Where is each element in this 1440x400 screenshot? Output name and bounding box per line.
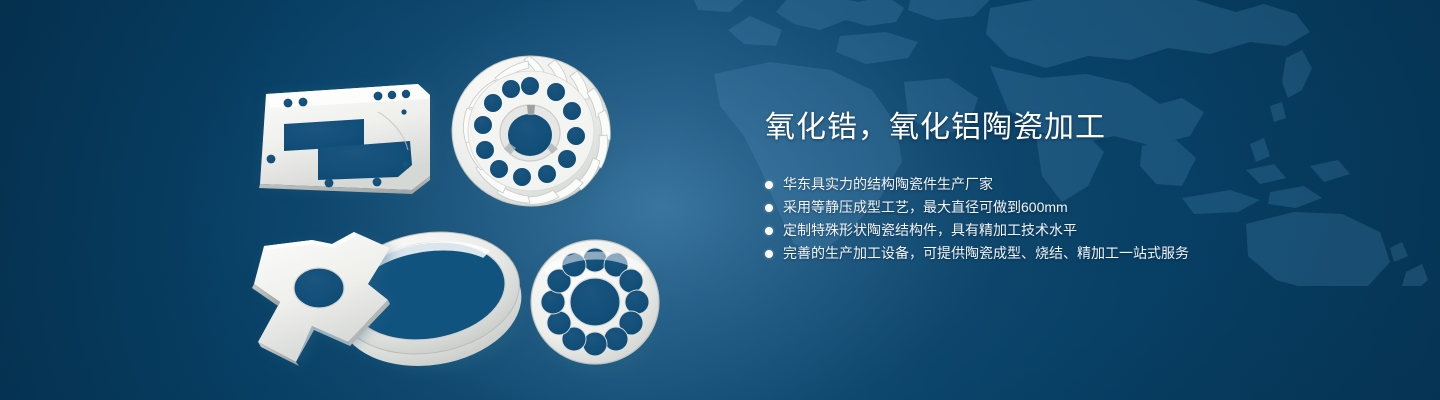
ceramic-products-photo-group [0, 0, 760, 400]
banner-copy-block: 氧化锆，氧化铝陶瓷加工 华东具实力的结构陶瓷件生产厂家 采用等静压成型工艺，最大… [765, 108, 1385, 281]
feature-text: 完善的生产加工设备，可提供陶瓷成型、烧结、精加工一站式服务 [783, 242, 1189, 265]
feature-text: 华东具实力的结构陶瓷件生产厂家 [783, 173, 993, 196]
list-item: 华东具实力的结构陶瓷件生产厂家 [765, 173, 1385, 196]
list-item: 定制特殊形状陶瓷结构件，具有精加工技术水平 [765, 219, 1385, 242]
feature-text: 采用等静压成型工艺，最大直径可做到600mm [783, 196, 1068, 219]
list-item: 采用等静压成型工艺，最大直径可做到600mm [765, 196, 1385, 219]
ceramic-impeller-disc [452, 56, 615, 215]
bullet-dot-icon [765, 250, 773, 258]
list-item: 完善的生产加工设备，可提供陶瓷成型、烧结、精加工一站式服务 [765, 242, 1385, 265]
bullet-dot-icon [765, 227, 773, 235]
feature-text: 定制特殊形状陶瓷结构件，具有精加工技术水平 [783, 219, 1077, 242]
ceramic-plate-machined [259, 84, 432, 194]
ceramic-perforated-disc [531, 240, 663, 372]
bullet-dot-icon [765, 181, 773, 189]
hero-banner: 氧化锆，氧化铝陶瓷加工 华东具实力的结构陶瓷件生产厂家 采用等静压成型工艺，最大… [0, 0, 1440, 400]
page-title: 氧化锆，氧化铝陶瓷加工 [765, 108, 1385, 148]
bullet-dot-icon [765, 204, 773, 212]
feature-list: 华东具实力的结构陶瓷件生产厂家 采用等静压成型工艺，最大直径可做到600mm 定… [765, 173, 1385, 265]
